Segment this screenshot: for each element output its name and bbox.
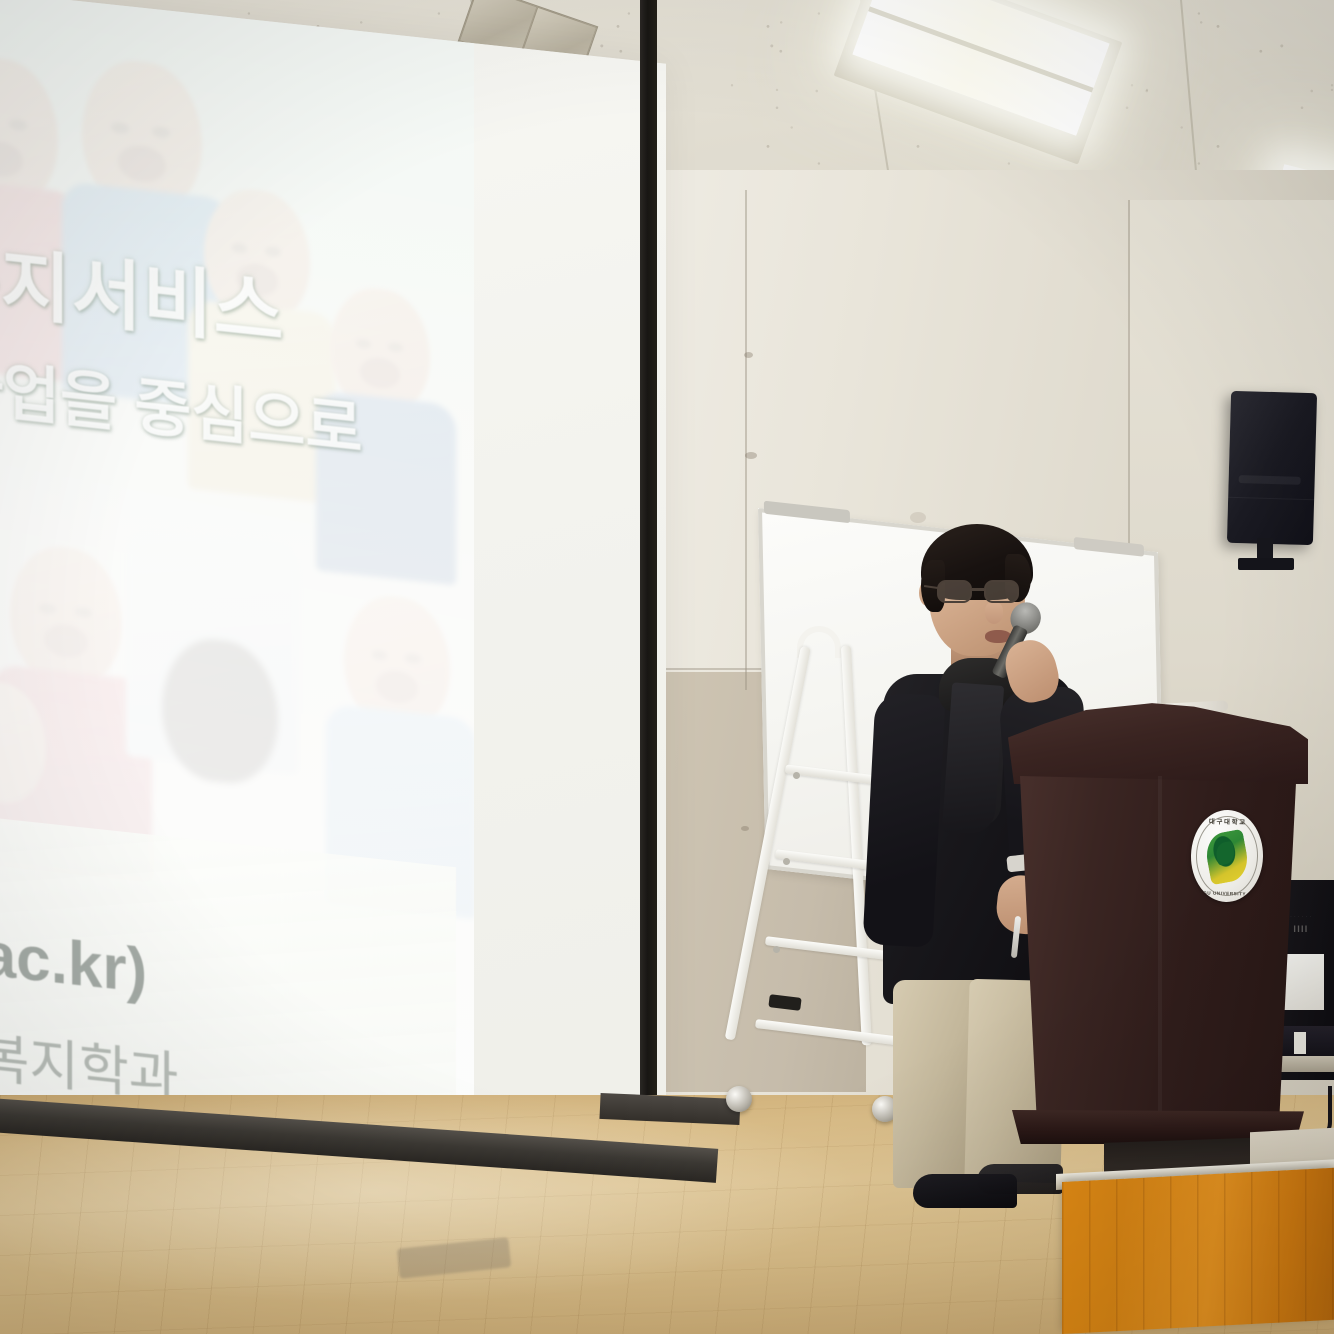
projection-screen-side-band xyxy=(640,0,657,1156)
wood-grain-texture xyxy=(1062,1168,1334,1334)
presenter-nose xyxy=(985,602,1003,624)
wall-scuff xyxy=(744,352,753,358)
lecture-hall-scene: 복지서비스 사업을 중심으로 등 a.ac.kr) 회복지학과 xyxy=(0,0,1334,1334)
emblem-korean-text: 대구대학교 xyxy=(1192,816,1264,827)
projection-screen: 복지서비스 사업을 중심으로 등 a.ac.kr) 회복지학과 xyxy=(0,0,676,1150)
presenter-left-arm xyxy=(862,692,945,947)
wall-seam xyxy=(745,190,747,690)
podium-corner-edge xyxy=(1158,776,1162,1116)
speaker-mount-arm xyxy=(1238,558,1294,570)
presenter-shoe xyxy=(977,1164,1063,1194)
eyeglass-lens xyxy=(937,580,972,603)
presenter-jacket-lapel xyxy=(942,682,1004,835)
eyeglass-bridge xyxy=(972,588,984,591)
podium: 대구대학교 DAEGU UNIVERSITY 1956 xyxy=(1008,698,1308,1168)
podium-top-ledge xyxy=(1008,698,1308,784)
wall-scuff xyxy=(745,452,757,459)
eyeglass-lens xyxy=(984,580,1019,603)
speaker-grille-slot xyxy=(1239,475,1301,485)
projection-screen-surface: 복지서비스 사업을 중심으로 등 a.ac.kr) 회복지학과 xyxy=(0,0,666,1224)
wooden-bench-panel xyxy=(1062,1168,1334,1334)
easel-foot-pad xyxy=(768,994,801,1011)
easel-caster xyxy=(726,1086,752,1112)
eyeglasses xyxy=(937,580,1025,604)
easel-bolt xyxy=(783,858,790,865)
wall-mounted-loudspeaker xyxy=(1227,391,1317,545)
speaker-seam xyxy=(1228,497,1314,500)
easel-bolt xyxy=(773,946,780,953)
easel-bolt xyxy=(793,772,800,779)
